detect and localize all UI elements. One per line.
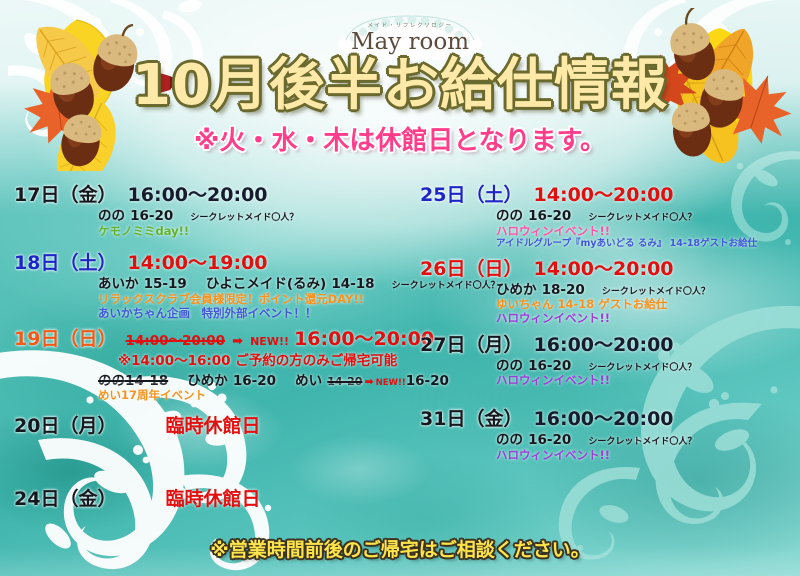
secret-maid-note: シークレットメイド〇人？ [588,363,696,373]
entry-dayline: 25日（土） 14:00〜20:00 [420,186,800,206]
secret-maid-note: シークレットメイド〇人？ [602,287,710,297]
schedule-entry: 27日（月） 16:00〜20:00 のの 16-20 シークレットメイド〇人？… [420,336,800,388]
secret-maid-note: シークレットメイド〇人？ [588,437,696,447]
entry-date: 26日（日） [420,258,522,280]
schedule-entry: 24日（金） 臨時休館日 [14,490,414,510]
secret-maid-note: シークレットメイド〇人？ [588,213,696,223]
schedule-entry: 18日（土） 14:00〜19:00 あいか 15-19 ひよこメイド(るみ) … [14,254,414,320]
maid-hours: 14-18 [125,373,168,389]
entry-time: 14:00〜20:00 [534,258,674,280]
entry-details: のの 16-20 シークレットメイド〇人？ ハロウィンイベント!! アイドルグル… [496,206,800,250]
entry-date: 17日（金） [14,184,116,206]
entry-new-time: 16:00〜20:00 [294,328,434,350]
entry-dayline: 20日（月） 臨時休館日 [14,417,414,437]
entry-details: のの 16-20 シークレットメイド〇人？ ハロウィンイベント!! [496,356,800,388]
maid-line: のの14-18 ひめか 16-20 めい 14-20➡NEW!!16-20 [98,370,414,389]
schedule-entry: 19日（日） 14:00〜20:00 ➡ NEW!! 16:00〜20:00 ※… [14,330,414,402]
maid-line: ひめか 18-20 シークレットメイド〇人？ [496,280,800,299]
maid-line: あいか 15-19 ひよこメイド(るみ) 14-18 シークレットメイド〇人？ [98,274,414,293]
schedule-entry: 31日（金） 16:00〜20:00 のの 16-20 シークレットメイド〇人？… [420,410,800,462]
maid-name: ひめか [496,282,537,298]
entry-note: ハロウィンイベント!! [496,312,800,326]
entry-note: あいかちゃん企画 特別外部イベント！！ [98,307,414,321]
entry-date: 25日（土） [420,184,522,206]
new-badge: NEW!! [376,378,406,388]
entry-dayline: 31日（金） 16:00〜20:00 [420,410,800,430]
entry-dayline: 24日（金） 臨時休館日 [14,490,414,510]
maid-name: のの [496,208,523,224]
reserve-note-line: ※14:00〜16:00 ご予約の方のみご帰宅可能 [118,350,414,369]
entry-dayline: 26日（日） 14:00〜20:00 [420,260,800,280]
entry-note: ケモノミミday!! [98,225,414,239]
entry-details: あいか 15-19 ひよこメイド(るみ) 14-18 シークレットメイド〇人？ … [98,274,414,320]
entry-time: 16:00〜20:00 [128,184,268,206]
arrow-right-icon: ➡ [232,334,243,349]
page-subtitle: ※火・水・木は休館日となります。 [0,128,800,154]
maid-hours: 16-20 [528,358,571,374]
entry-old-time: 14:00〜20:00 [126,333,225,349]
entry-date: 31日（金） [420,408,522,430]
maid-name: のの [98,373,125,389]
entry-date: 19日（日） [14,328,116,350]
entry-note: ハロウィンイベント!! [496,225,800,239]
maid-hours: 16-20 [130,208,173,224]
schedule-entry: 26日（日） 14:00〜20:00 ひめか 18-20 シークレットメイド〇人… [420,260,800,326]
maid-line: のの 16-20 シークレットメイド〇人？ [496,430,800,449]
entry-date: 24日（金） [14,488,116,510]
maid-hours: 14-20 [327,375,362,388]
entry-time: 14:00〜20:00 [534,184,674,206]
entry-dayline: 17日（金） 16:00〜20:00 [14,186,414,206]
new-badge: NEW!! [250,335,289,348]
maid-name: のの [98,208,125,224]
maid-hours: 18-20 [542,282,585,298]
maid-hours: 15-19 [144,276,187,292]
logo-wordmark: May room [330,31,490,54]
entry-date: 20日（月） [14,415,116,437]
entry-note: ゆいちゃん 14-18 ゲストお給仕 [496,298,800,312]
footer-note: ※営業時間前後のご帰宅はご相談ください。 [0,541,800,560]
maid-name: めい [295,373,322,389]
maid-name: ひめか [187,373,228,389]
maid-line: のの 16-20 シークレットメイド〇人？ [496,356,800,375]
entry-time: 14:00〜19:00 [128,252,268,274]
logo-kana: メイド・リフレクソロジー [330,14,490,30]
closed-label: 臨時休館日 [166,488,261,510]
entry-details: のの 16-20 シークレットメイド〇人？ ケモノミミday!! [98,206,414,238]
entry-details: のの 16-20 シークレットメイド〇人？ ハロウィンイベント!! [496,430,800,462]
entry-note: リラックスクラブ会員様限定！ポイント還元DAY!! [98,293,414,307]
arrow-right-icon: ➡ [364,375,373,388]
entry-time: 16:00〜20:00 [534,334,674,356]
maid-name: あいか [98,276,139,292]
maid-name: のの [496,358,523,374]
maid-hours: 16-20 [233,373,276,389]
maid-hours: 14-18 [331,276,374,292]
entry-date: 27日（月） [420,334,522,356]
entry-note: めい17周年イベント [98,389,414,403]
maid-hours: 16-20 [528,432,571,448]
entry-details: ひめか 18-20 シークレットメイド〇人？ ゆいちゃん 14-18 ゲストお給… [496,280,800,326]
schedule-entry: 20日（月） 臨時休館日 [14,417,414,437]
closed-label: 臨時休館日 [166,415,261,437]
maid-hours: 16-20 [528,208,571,224]
schedule-entry: 25日（土） 14:00〜20:00 のの 16-20 シークレットメイド〇人？… [420,186,800,250]
entry-note: ハロウィンイベント!! [496,374,800,388]
page-title: 10月後半お給仕情報 [0,58,800,114]
reserve-note: ※14:00〜16:00 ご予約の方のみご帰宅可能 [118,353,397,369]
maid-name: のの [496,432,523,448]
maid-name: ひよこメイド(るみ) [206,276,326,292]
entry-time: 16:00〜20:00 [534,408,674,430]
entry-dayline: 19日（日） 14:00〜20:00 ➡ NEW!! 16:00〜20:00 [14,330,414,350]
maid-line: のの 16-20 シークレットメイド〇人？ [98,206,414,225]
entry-note: アイドルグループ『myあいどる るみ』 14-18ゲストお給仕 [496,238,800,249]
entry-note: ハロウィンイベント!! [496,449,800,463]
entry-dayline: 18日（土） 14:00〜19:00 [14,254,414,274]
schedule-column-left: 17日（金） 16:00〜20:00 のの 16-20 シークレットメイド〇人？… [14,186,414,514]
entry-date: 18日（土） [14,252,116,274]
schedule-entry: 17日（金） 16:00〜20:00 のの 16-20 シークレットメイド〇人？… [14,186,414,238]
maid-line: のの 16-20 シークレットメイド〇人？ [496,206,800,225]
schedule-column-right: 25日（土） 14:00〜20:00 のの 16-20 シークレットメイド〇人？… [420,186,800,466]
secret-maid-note: シークレットメイド〇人？ [190,213,298,223]
poster-canvas: メイド・リフレクソロジー May room 10月後半お給仕情報 ※火・水・木は… [0,0,800,576]
entry-dayline: 27日（月） 16:00〜20:00 [420,336,800,356]
